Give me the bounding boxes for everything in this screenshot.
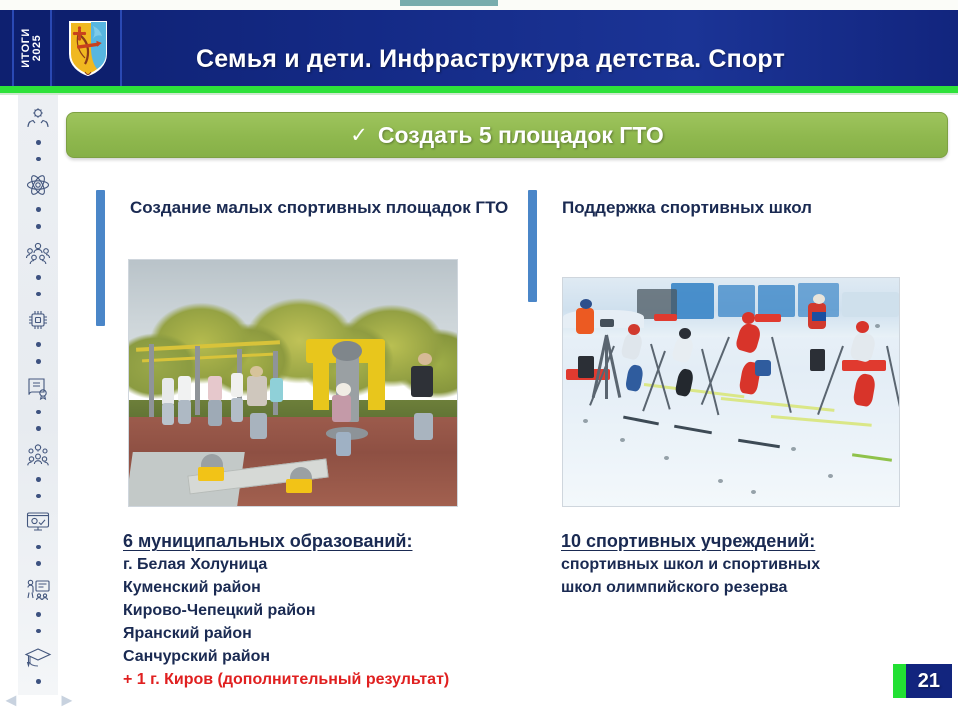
rail-dot xyxy=(36,342,41,347)
page-title: Семья и дети. Инфраструктура детства. Сп… xyxy=(196,45,896,74)
header-green-rule xyxy=(0,86,958,93)
rail-dot xyxy=(36,292,41,297)
rail-dot xyxy=(36,545,41,550)
right-column-heading: Поддержка спортивных школ xyxy=(562,190,948,220)
objective-banner-text: Создать 5 площадок ГТО xyxy=(378,122,664,149)
microchip-icon[interactable] xyxy=(23,306,53,334)
people-settings-icon[interactable] xyxy=(23,441,53,469)
next-slide-arrow[interactable]: ► xyxy=(58,690,76,711)
left-summary-title: 6 муниципальных образований: xyxy=(123,531,543,552)
rail-dot xyxy=(36,561,41,566)
rail-dot xyxy=(36,140,41,145)
rail-dot xyxy=(36,275,41,280)
coat-of-arms xyxy=(55,10,122,86)
left-column-heading: Создание малых спортивных площадок ГТО xyxy=(130,190,516,220)
objective-banner: ✓ Создать 5 площадок ГТО xyxy=(66,112,948,158)
page-number: 21 xyxy=(906,664,952,698)
left-accent-bar xyxy=(96,190,105,326)
people-group-icon[interactable] xyxy=(23,239,53,267)
check-icon: ✓ xyxy=(350,125,368,146)
page-number-badge: 21 xyxy=(893,664,952,698)
list-item: школ олимпийского резерва xyxy=(561,576,958,599)
right-summary-title: 10 спортивных учреждений: xyxy=(561,531,958,552)
right-summary: 10 спортивных учреждений: спортивных шко… xyxy=(561,531,958,599)
outdoor-gto-playground-photo xyxy=(128,259,458,507)
presentation-icon[interactable] xyxy=(23,576,53,604)
rail-dot xyxy=(36,629,41,634)
list-item: г. Белая Холуница xyxy=(123,553,543,576)
right-column: Поддержка спортивных школ xyxy=(528,190,948,250)
left-column: Создание малых спортивных площадок ГТО xyxy=(96,190,516,250)
graduation-cap-icon[interactable] xyxy=(23,643,53,671)
report-tab-line2: 2025 xyxy=(32,28,43,68)
presentation-slide: ИТОГИ 2025 Семья и дети. Инфраструктура … xyxy=(0,0,958,720)
report-year-tab: ИТОГИ 2025 xyxy=(12,10,52,86)
left-summary: 6 муниципальных образований: г. Белая Хо… xyxy=(123,531,543,691)
monitor-check-icon[interactable] xyxy=(23,508,53,536)
top-strip-tick xyxy=(400,0,498,6)
certificate-icon[interactable] xyxy=(23,374,53,402)
page-badge-accent xyxy=(893,664,906,698)
rail-dot xyxy=(36,612,41,617)
header-green-rule-shadow xyxy=(0,93,958,95)
rail-dot xyxy=(36,359,41,364)
prev-slide-arrow[interactable]: ◄ xyxy=(2,690,20,711)
list-item: спортивных школ и спортивных xyxy=(561,553,958,576)
list-item: Кирово-Чепецкий район xyxy=(123,599,543,622)
rail-dot xyxy=(36,494,41,499)
left-extra-result: + 1 г. Киров (дополнительный результат) xyxy=(123,668,543,691)
rail-dot xyxy=(36,477,41,482)
rail-dot xyxy=(36,224,41,229)
cross-country-ski-race-photo xyxy=(562,277,900,507)
top-strip xyxy=(0,0,958,10)
rail-dot xyxy=(36,157,41,162)
list-item: Куменский район xyxy=(123,576,543,599)
atom-icon[interactable] xyxy=(23,171,53,199)
list-item: Санчурский район xyxy=(123,645,543,668)
rail-dot xyxy=(36,679,41,684)
rail-dot xyxy=(36,207,41,212)
list-item: Яранский район xyxy=(123,622,543,645)
hands-gear-icon[interactable] xyxy=(23,104,53,132)
sidebar-icon-list xyxy=(18,100,58,690)
rail-dot xyxy=(36,426,41,431)
rail-dot xyxy=(36,410,41,415)
slide-nav-arrows[interactable]: ◄ ► xyxy=(0,688,78,716)
right-accent-bar xyxy=(528,190,537,302)
